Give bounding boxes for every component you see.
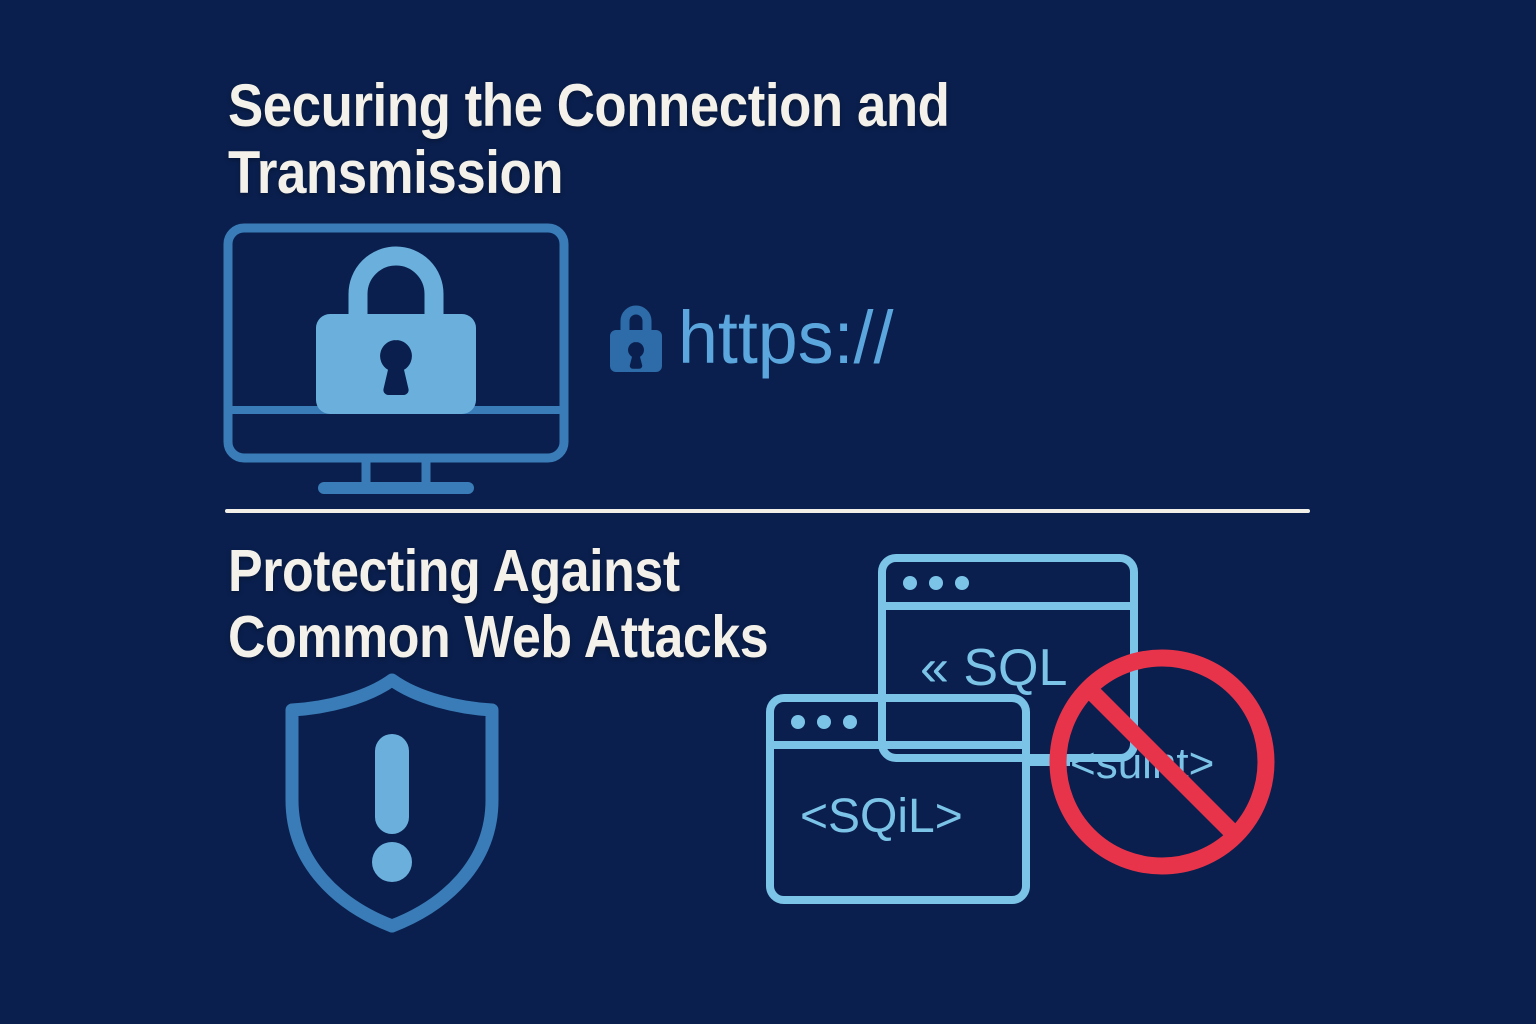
browser-back-dot-2 (929, 576, 943, 590)
shield-exclamation-bar (375, 734, 409, 834)
https-lock-body (610, 330, 662, 372)
browser-front-dot-3 (843, 715, 857, 729)
browser-front-code-label: <SQiL> (800, 790, 963, 843)
padlock-body (316, 314, 476, 414)
browser-back-dot-1 (903, 576, 917, 590)
monitor-base (318, 482, 474, 494)
infographic-canvas: Securing the Connection and Transmission… (0, 0, 1536, 1024)
padlock-shackle (358, 256, 434, 318)
web-attack-svg: « SQL <SQiL> <suint> (752, 540, 1300, 920)
browser-front-dot-1 (791, 715, 805, 729)
https-lock-icon (608, 302, 664, 374)
browser-front-dot-2 (817, 715, 831, 729)
browser-window-back: « SQL (882, 558, 1134, 758)
monitor-lock-icon (218, 218, 590, 508)
shield-alert-icon (272, 672, 512, 934)
browser-back-dot-3 (955, 576, 969, 590)
browser-back-code-label: « SQL (920, 639, 1067, 697)
browser-window-front: <SQiL> (770, 698, 1026, 900)
https-scheme-text: https:// (678, 301, 893, 375)
https-label-group: https:// (608, 288, 988, 388)
web-attack-icon-group: « SQL <SQiL> <suint> (752, 540, 1300, 920)
monitor-lock-svg (218, 218, 590, 508)
section-heading-securing: Securing the Connection and Transmission (228, 72, 1152, 206)
shield-exclamation-dot (372, 842, 412, 882)
shield-alert-svg (272, 672, 512, 934)
section-divider (225, 509, 1310, 513)
https-lock-shackle (625, 310, 647, 332)
